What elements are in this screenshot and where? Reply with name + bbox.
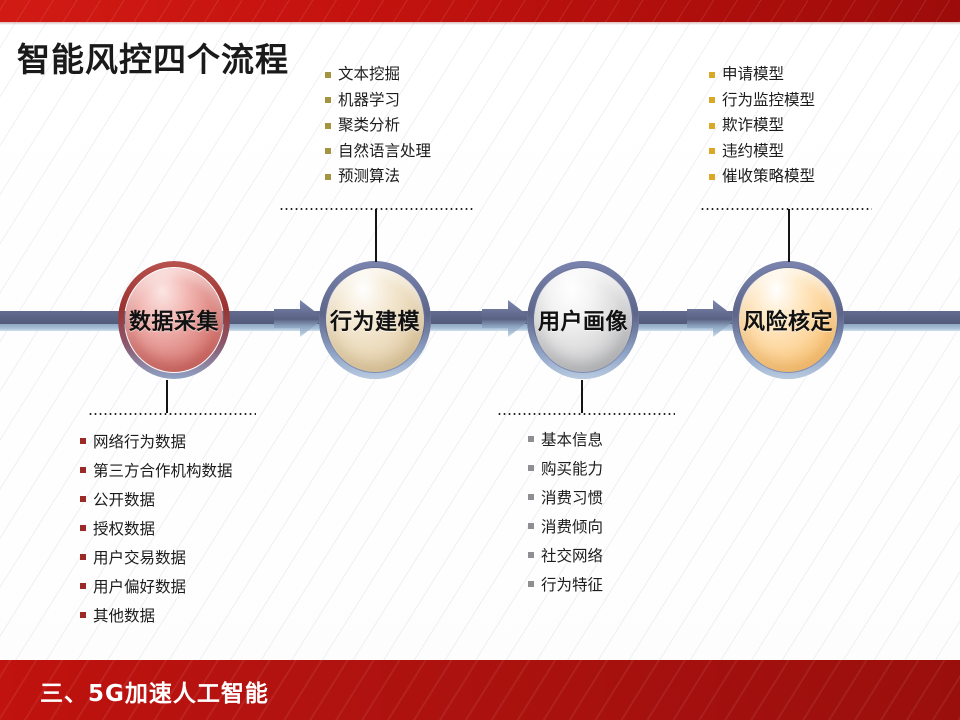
list-modeling-methods: 文本挖掘 机器学习 聚类分析 自然语言处理 预测算法 [325, 62, 431, 190]
bullet-square-icon [80, 612, 86, 618]
list-item: 公开数据 [80, 486, 233, 515]
list-item-label: 行为特征 [541, 576, 603, 594]
connector-dotted-line [700, 208, 872, 210]
list-item: 行为特征 [528, 571, 603, 600]
list-profile-dimensions: 基本信息 购买能力 消费习惯 消费倾向 社交网络 行为特征 [528, 426, 603, 600]
list-item: 其他数据 [80, 602, 233, 631]
list-item: 机器学习 [325, 88, 431, 114]
bullet-square-icon [80, 554, 86, 560]
list-item-label: 催收策略模型 [722, 167, 815, 185]
bullet-square-icon [528, 581, 534, 587]
list-item-label: 基本信息 [541, 431, 603, 449]
list-item: 购买能力 [528, 455, 603, 484]
bullet-square-icon [709, 148, 715, 154]
list-item: 基本信息 [528, 426, 603, 455]
list-item-label: 机器学习 [338, 91, 400, 109]
connector-user-profile [497, 380, 675, 415]
list-item: 文本挖掘 [325, 62, 431, 88]
connector-dotted-line [88, 413, 256, 415]
connector-stem [375, 209, 377, 262]
list-item-label: 授权数据 [93, 520, 155, 538]
page-title: 智能风控四个流程 [17, 40, 289, 80]
flow-node-risk-assessment[interactable]: 风险核定 [732, 261, 844, 379]
flow-node-label: 数据采集 [112, 261, 236, 379]
bullet-square-icon [325, 148, 331, 154]
connector-stem [788, 209, 790, 262]
list-item: 授权数据 [80, 515, 233, 544]
top-accent-bar [0, 0, 960, 22]
list-item-label: 文本挖掘 [338, 65, 400, 83]
connector-data-collection [88, 380, 256, 415]
list-item-label: 其他数据 [93, 607, 155, 625]
list-item: 社交网络 [528, 542, 603, 571]
bullet-square-icon [528, 494, 534, 500]
list-item-label: 欺诈模型 [722, 116, 784, 134]
list-item: 行为监控模型 [709, 88, 815, 114]
list-item-label: 消费倾向 [541, 518, 603, 536]
list-item-label: 行为监控模型 [722, 91, 815, 109]
list-item-label: 用户交易数据 [93, 549, 186, 567]
bullet-square-icon [528, 436, 534, 442]
list-item: 催收策略模型 [709, 164, 815, 190]
list-item: 申请模型 [709, 62, 815, 88]
flow-node-user-profile[interactable]: 用户画像 [527, 261, 639, 379]
list-item-label: 用户偏好数据 [93, 578, 186, 596]
bullet-square-icon [80, 496, 86, 502]
list-item: 第三方合作机构数据 [80, 457, 233, 486]
list-item-label: 自然语言处理 [338, 142, 431, 160]
list-item-label: 预测算法 [338, 167, 400, 185]
top-accent-bar-shadow [0, 22, 960, 25]
flow-node-label: 行为建模 [313, 261, 437, 379]
list-item: 自然语言处理 [325, 139, 431, 165]
bullet-square-icon [528, 465, 534, 471]
list-item-label: 消费习惯 [541, 489, 603, 507]
bullet-square-icon [80, 467, 86, 473]
list-item-label: 申请模型 [722, 65, 784, 83]
bullet-square-icon [528, 523, 534, 529]
bullet-square-icon [80, 438, 86, 444]
list-item: 欺诈模型 [709, 113, 815, 139]
connector-dotted-line [497, 413, 675, 415]
flow-node-behavior-modeling[interactable]: 行为建模 [319, 261, 431, 379]
flow-node-label: 用户画像 [521, 261, 645, 379]
list-risk-models: 申请模型 行为监控模型 欺诈模型 违约模型 催收策略模型 [709, 62, 815, 190]
list-item-label: 违约模型 [722, 142, 784, 160]
bullet-square-icon [709, 72, 715, 78]
list-item-label: 第三方合作机构数据 [93, 462, 233, 480]
list-item: 预测算法 [325, 164, 431, 190]
bullet-square-icon [325, 123, 331, 129]
list-item-label: 购买能力 [541, 460, 603, 478]
list-item: 网络行为数据 [80, 428, 233, 457]
flow-node-label: 风险核定 [726, 261, 850, 379]
list-item: 聚类分析 [325, 113, 431, 139]
bullet-square-icon [80, 583, 86, 589]
connector-stem [166, 380, 168, 413]
list-item-label: 公开数据 [93, 491, 155, 509]
bullet-square-icon [80, 525, 86, 531]
list-item: 用户交易数据 [80, 544, 233, 573]
list-data-sources: 网络行为数据 第三方合作机构数据 公开数据 授权数据 用户交易数据 用户偏好数据… [80, 428, 233, 631]
bullet-square-icon [709, 123, 715, 129]
list-item: 违约模型 [709, 139, 815, 165]
bullet-square-icon [325, 97, 331, 103]
connector-behavior-modeling [279, 208, 474, 262]
list-item: 用户偏好数据 [80, 573, 233, 602]
list-item-label: 网络行为数据 [93, 433, 186, 451]
bullet-square-icon [325, 72, 331, 78]
list-item: 消费倾向 [528, 513, 603, 542]
connector-stem [581, 380, 583, 413]
slide-canvas: 智能风控四个流程 数 [0, 0, 960, 720]
list-item: 消费习惯 [528, 484, 603, 513]
bullet-square-icon [528, 552, 534, 558]
bullet-square-icon [325, 174, 331, 180]
connector-risk-assessment [700, 208, 872, 262]
bullet-square-icon [709, 97, 715, 103]
flow-node-data-collection[interactable]: 数据采集 [118, 261, 230, 379]
list-item-label: 社交网络 [541, 547, 603, 565]
footer-section-title: 三、5G加速人工智能 [40, 674, 269, 708]
list-item-label: 聚类分析 [338, 116, 400, 134]
bullet-square-icon [709, 174, 715, 180]
